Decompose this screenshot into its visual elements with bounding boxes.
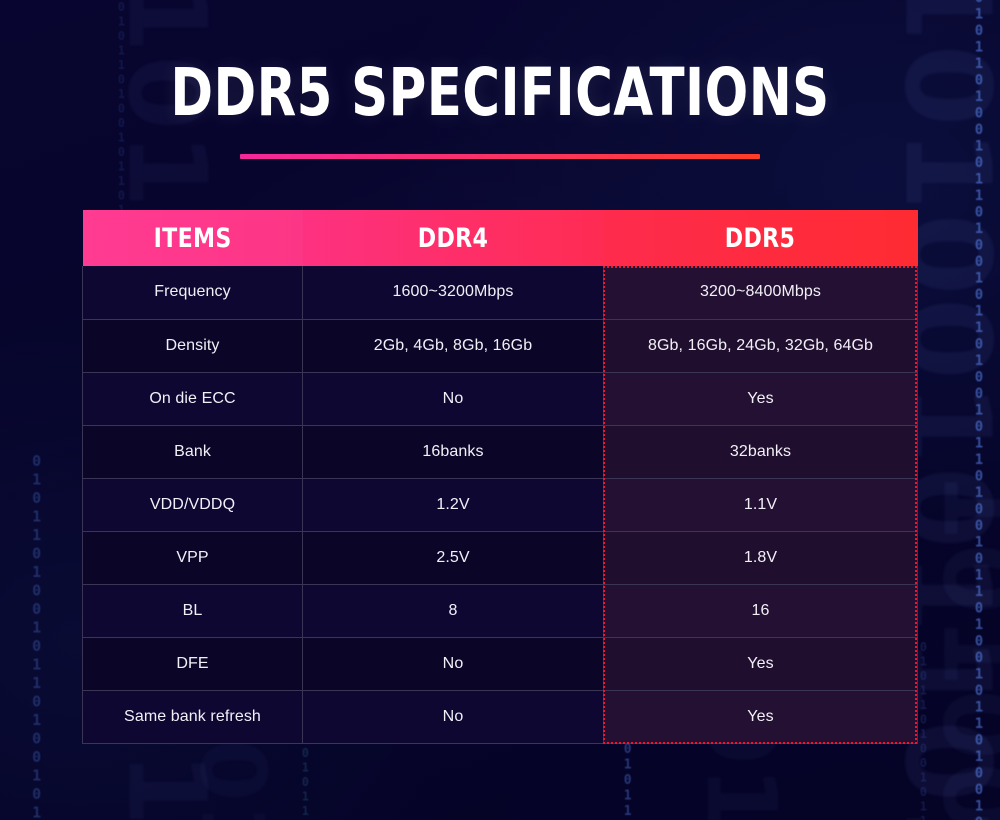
cell-item-name: Same bank refresh <box>83 690 303 743</box>
cell-ddr4-value: 1.2V <box>303 478 604 531</box>
cell-ddr5-value: 32banks <box>604 425 918 478</box>
table-row: VPP2.5V1.8V <box>83 531 918 584</box>
table-header: ITEMS DDR4 DDR5 <box>83 210 918 266</box>
cell-ddr5-value: Yes <box>604 637 918 690</box>
binary-ribbon: 0101101001011010010110100101101001011010… <box>30 452 42 820</box>
table-row: VDD/VDDQ1.2V1.1V <box>83 478 918 531</box>
cell-item-name: VDD/VDDQ <box>83 478 303 531</box>
cell-ddr5-value: Yes <box>604 690 918 743</box>
cell-ddr5-value: 3200~8400Mbps <box>604 266 918 319</box>
cell-item-name: On die ECC <box>83 372 303 425</box>
cell-ddr4-value: 8 <box>303 584 604 637</box>
title-block: DDR5 SPECIFICATIONS <box>0 60 1000 159</box>
cell-ddr5-value: 1.1V <box>604 478 918 531</box>
table-row: On die ECCNoYes <box>83 372 918 425</box>
column-header-ddr4: DDR4 <box>303 210 604 266</box>
column-header-ddr5-label: DDR5 <box>725 223 796 254</box>
table-row: BL816 <box>83 584 918 637</box>
cell-item-name: Bank <box>83 425 303 478</box>
table-header-row: ITEMS DDR4 DDR5 <box>83 210 918 266</box>
cell-ddr4-value: 1600~3200Mbps <box>303 266 604 319</box>
column-header-items: ITEMS <box>83 210 303 266</box>
specifications-table: ITEMS DDR4 DDR5 Frequency1600~3200Mbps32… <box>82 210 918 744</box>
column-header-ddr4-label: DDR4 <box>418 223 489 254</box>
cell-ddr5-value: Yes <box>604 372 918 425</box>
page-title: DDR5 SPECIFICATIONS <box>110 60 890 126</box>
cell-ddr5-value: 1.8V <box>604 531 918 584</box>
binary-ribbon: 01011010010110100101 <box>622 742 632 820</box>
title-underline-accent <box>240 154 760 159</box>
cell-ddr4-value: 2Gb, 4Gb, 8Gb, 16Gb <box>303 319 604 372</box>
cell-item-name: Density <box>83 319 303 372</box>
binary-decoration-glyphs: 10100101101 <box>938 470 1000 820</box>
cell-item-name: VPP <box>83 531 303 584</box>
column-header-items-label: ITEMS <box>153 223 231 254</box>
column-header-ddr5: DDR5 <box>604 210 918 266</box>
table-row: DFENoYes <box>83 637 918 690</box>
cell-ddr4-value: No <box>303 690 604 743</box>
table-row: Bank16banks32banks <box>83 425 918 478</box>
table-row: Density2Gb, 4Gb, 8Gb, 16Gb8Gb, 16Gb, 24G… <box>83 319 918 372</box>
cell-ddr5-value: 16 <box>604 584 918 637</box>
binary-ribbon: 01011010010110100101 <box>918 640 927 820</box>
cell-item-name: Frequency <box>83 266 303 319</box>
cell-item-name: DFE <box>83 637 303 690</box>
cell-ddr4-value: No <box>303 637 604 690</box>
cell-ddr4-value: 16banks <box>303 425 604 478</box>
table-row: Same bank refreshNoYes <box>83 690 918 743</box>
cell-ddr5-value: 8Gb, 16Gb, 24Gb, 32Gb, 64Gb <box>604 319 918 372</box>
cell-item-name: BL <box>83 584 303 637</box>
cell-ddr4-value: 2.5V <box>303 531 604 584</box>
table-row: Frequency1600~3200Mbps3200~8400Mbps <box>83 266 918 319</box>
cell-ddr4-value: No <box>303 372 604 425</box>
table-body: Frequency1600~3200Mbps3200~8400MbpsDensi… <box>83 266 918 743</box>
